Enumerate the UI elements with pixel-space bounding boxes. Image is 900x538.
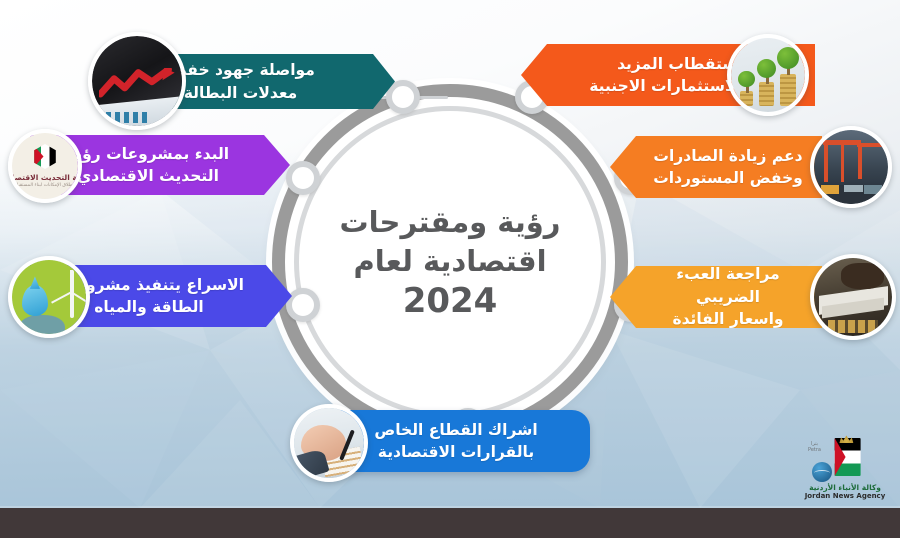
banner-exports-line2: وخفض المستوردات	[653, 167, 803, 189]
page-title: رؤية ومقترحات اقتصادية لعام	[325, 203, 575, 281]
center-ring: رؤية ومقترحات اقتصادية لعام 2024	[272, 84, 628, 440]
banner-modernization-line1: البدء بمشروعات رؤية	[67, 143, 229, 165]
bottom-bar	[0, 508, 900, 538]
photo-foreign-investment	[727, 34, 809, 116]
infographic-canvas: رؤية ومقترحات اقتصادية لعام 2024 مواصلة …	[0, 0, 900, 538]
agency-name-en: Jordan News Agency	[804, 492, 886, 500]
globe-icon	[812, 462, 832, 482]
money-trees-growth-photo	[731, 38, 805, 112]
tax-documents-hands-photo	[814, 258, 892, 336]
ring-core: رؤية ومقترحات اقتصادية لعام 2024	[306, 118, 594, 406]
red-arrow-icon	[99, 68, 175, 99]
banner-tax-interest[interactable]: مراجعة العبء الضريبي واسعار الفائدة	[610, 266, 822, 328]
banner-modernization-line2: التحديث الاقتصادي	[67, 165, 229, 187]
petra-mark-text: بترا Petra	[808, 442, 821, 453]
banner-tax-line2: واسعار الفائدة	[650, 308, 806, 330]
photo-energy-water	[8, 256, 90, 338]
banner-exports-line1: دعم زيادة الصادرات	[653, 145, 803, 167]
banner-exports-imports-body[interactable]: دعم زيادة الصادرات وخفض المستوردات	[610, 136, 822, 198]
vision-logo-subtitle: انطلاق الإمكانات لبناء المستقبل	[15, 183, 75, 188]
agency-name-ar: وكالة الأنباء الأردنية	[804, 483, 886, 492]
photo-tax-interest	[810, 254, 896, 340]
jordan-flag-icon	[835, 438, 861, 476]
node-mid-left-upper	[286, 161, 320, 195]
agency-mark: بترا Petra	[804, 438, 886, 482]
agency-logo: بترا Petra وكالة الأنباء الأردنية Jordan…	[804, 438, 886, 500]
jordan-hex-flag-icon	[32, 144, 57, 169]
banner-exports-imports[interactable]: دعم زيادة الصادرات وخفض المستوردات	[610, 136, 822, 198]
photo-modernization-vision: رؤية التحديث الاقتصادي انطلاق الإمكانات …	[8, 129, 82, 203]
banner-unemployment-line2: معدلات البطالة	[166, 82, 315, 104]
water-drop-wind-turbine-photo	[12, 260, 86, 334]
banner-private-line1: اشراك القطاع الخاص	[374, 419, 537, 441]
hand-signing-document-photo	[294, 408, 364, 478]
red-arrow-growth-chart-photo	[92, 36, 182, 126]
vision-logo-title: رؤية التحديث الاقتصادي	[12, 173, 78, 182]
economic-modernization-vision-logo: رؤية التحديث الاقتصادي انطلاق الإمكانات …	[12, 133, 78, 199]
banner-private-line2: بالقرارات الاقتصادية	[374, 441, 537, 463]
page-year: 2024	[403, 283, 498, 320]
shipping-port-cranes-photo	[814, 130, 888, 204]
banner-tax-interest-body[interactable]: مراجعة العبء الضريبي واسعار الفائدة	[610, 266, 822, 328]
photo-exports-imports	[810, 126, 892, 208]
banner-tax-line1: مراجعة العبء الضريبي	[650, 263, 806, 308]
photo-private-sector	[290, 404, 368, 482]
photo-unemployment	[88, 32, 186, 130]
banner-unemployment-line1: مواصلة جهود خفض	[166, 59, 315, 81]
